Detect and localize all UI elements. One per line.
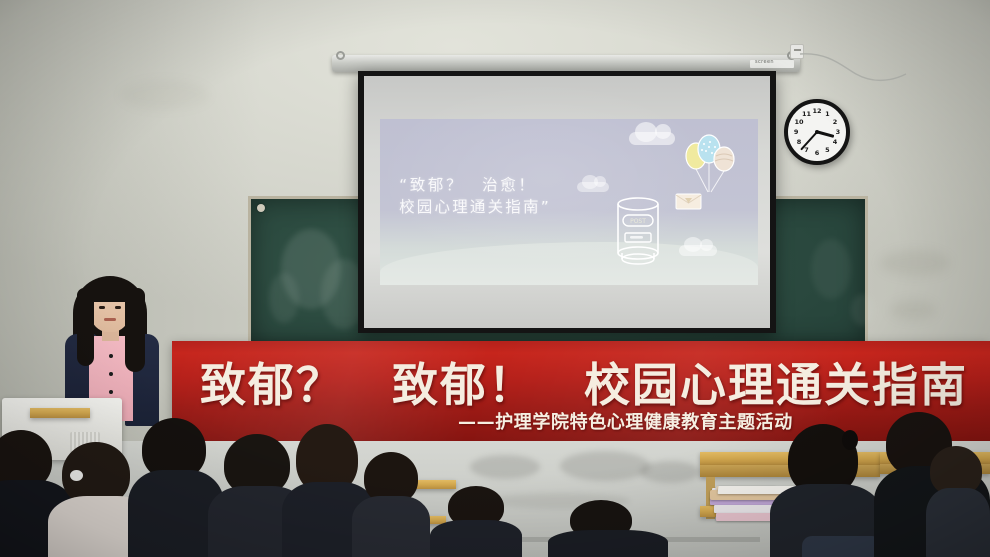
clock-numeral: 9 — [794, 128, 799, 136]
clock-numeral: 1 — [825, 110, 830, 118]
student-body — [926, 488, 990, 557]
hair-clip-icon — [70, 470, 83, 481]
clock-numeral: 3 — [836, 128, 841, 136]
list-item — [766, 424, 884, 557]
presenter-hair-side-right — [125, 288, 145, 372]
presentation-slide: POST “致郁？ 治愈！ 校园心理通关指南” — [380, 119, 758, 285]
presenter-eye — [115, 306, 121, 309]
hair-bun — [842, 430, 858, 450]
teacher-desk — [30, 408, 90, 418]
wall-smudge — [880, 250, 950, 276]
clock-numeral: 2 — [833, 118, 838, 126]
list-item — [352, 452, 430, 557]
cloud-bottom-right-icon — [679, 245, 717, 256]
list-item — [430, 486, 522, 557]
screen-surface: POST “致郁？ 治愈！ 校园心理通关指南” — [364, 76, 770, 328]
student-body — [548, 530, 668, 557]
clock-numeral: 10 — [794, 118, 803, 126]
student-body — [352, 496, 430, 557]
wall-smudge — [890, 300, 936, 320]
list-item — [548, 500, 668, 557]
slide-title: “致郁？ 治愈！ 校园心理通关指南” — [399, 174, 551, 218]
clock-hour-hand — [817, 131, 834, 138]
clock-face: 12 1 2 3 4 5 6 7 8 9 10 11 — [788, 103, 846, 161]
slide-title-line1: “致郁？ 治愈！ — [399, 174, 551, 196]
shirt-button — [109, 354, 113, 358]
presenter-eye — [99, 306, 105, 309]
clock-numeral: 12 — [812, 107, 821, 115]
mailbox-icon: POST — [614, 195, 662, 273]
cloud-top-right-icon — [629, 132, 675, 145]
classroom-photo-scene: screen — [0, 0, 990, 557]
clock-numeral: 5 — [825, 146, 830, 154]
chalk-smear — [851, 294, 875, 326]
chalk-smear — [811, 239, 851, 299]
clock-numeral: 6 — [815, 149, 820, 157]
panel-scuff — [640, 461, 700, 483]
envelope-icon — [675, 192, 702, 211]
projector-screen-housing[interactable]: screen — [332, 55, 800, 72]
power-cable-icon — [798, 50, 908, 90]
shirt-button — [109, 372, 113, 376]
clock-minute-hand — [800, 131, 818, 150]
svg-text:POST: POST — [630, 218, 646, 225]
housing-brand-label: screen — [755, 59, 774, 65]
clock-numeral: 11 — [802, 110, 811, 118]
banner-subtitle: ——护理学院特色心理健康教育主题活动 — [458, 408, 793, 434]
clock-numeral: 4 — [833, 138, 838, 146]
clock-numeral: 8 — [797, 138, 802, 146]
student-body — [430, 520, 522, 557]
wall-clock: 12 1 2 3 4 5 6 7 8 9 10 11 3:37 — [784, 99, 850, 165]
wall-smudge — [120, 80, 210, 110]
student-jeans — [802, 536, 882, 557]
list-item — [926, 446, 990, 557]
panel-scuff — [560, 451, 650, 481]
presenter-hair-side-left — [77, 288, 94, 366]
clock-center-pin — [815, 130, 819, 134]
slide-title-line2: 校园心理通关指南” — [399, 196, 551, 218]
projector-screen[interactable]: POST “致郁？ 治愈！ 校园心理通关指南” — [358, 71, 776, 333]
presenter-mouth — [104, 318, 116, 321]
clock-numeral: 7 — [804, 146, 809, 154]
panel-scuff — [470, 455, 540, 479]
chalk-smear — [269, 273, 299, 323]
cloud-middle-icon — [577, 182, 609, 192]
shirt-button — [109, 390, 113, 394]
blackboard-screw — [257, 204, 265, 212]
banner-title: 致郁？ 致郁！ 校园心理通关指南 — [200, 349, 968, 415]
screen-hook-left — [336, 51, 345, 60]
